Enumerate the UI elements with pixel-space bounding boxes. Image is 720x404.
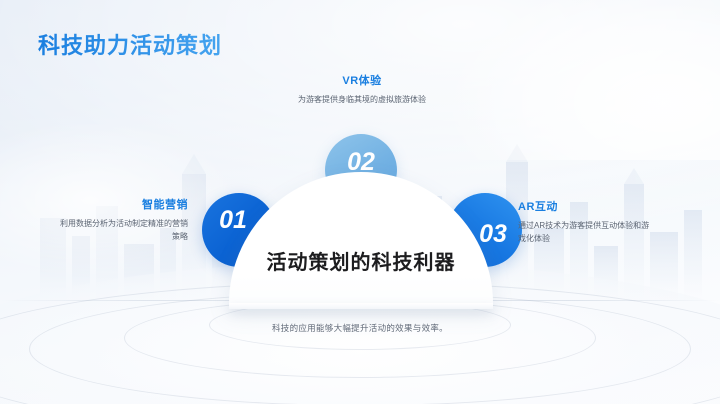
page-title: 科技助力活动策划 <box>38 28 222 60</box>
feature-03-title: AR互动 <box>518 198 656 214</box>
central-dome-label: 活动策划的科技利器 <box>229 246 493 275</box>
stage-ring-inner <box>124 298 596 378</box>
slide-canvas: 科技助力活动策划 01 02 03 活动策划的科技利器 智能营销 利用数据分析为… <box>0 0 720 404</box>
feature-02-title: VR体验 <box>278 72 446 88</box>
feature-02-desc: 为游客提供身临其境的虚拟旅游体验 <box>278 93 446 106</box>
cloud-right <box>440 0 720 160</box>
bottom-caption: 科技的应用能够大幅提升活动的效果与效率。 <box>0 322 720 334</box>
feature-01-title: 智能营销 <box>58 196 188 212</box>
feature-01-desc: 利用数据分析为活动制定精准的营销策略 <box>58 217 188 243</box>
feature-block-01: 智能营销 利用数据分析为活动制定精准的营销策略 <box>58 196 188 243</box>
central-dome-base <box>229 303 493 309</box>
feature-block-03: AR互动 通过AR技术为游客提供互动体验和游戏化体验 <box>518 198 656 245</box>
central-dome-shape <box>229 172 493 304</box>
number-badge-01-label: 01 <box>219 206 247 235</box>
feature-03-desc: 通过AR技术为游客提供互动体验和游戏化体验 <box>518 219 656 245</box>
feature-block-02: VR体验 为游客提供身临其境的虚拟旅游体验 <box>278 72 446 106</box>
number-badge-03-label: 03 <box>479 220 507 249</box>
